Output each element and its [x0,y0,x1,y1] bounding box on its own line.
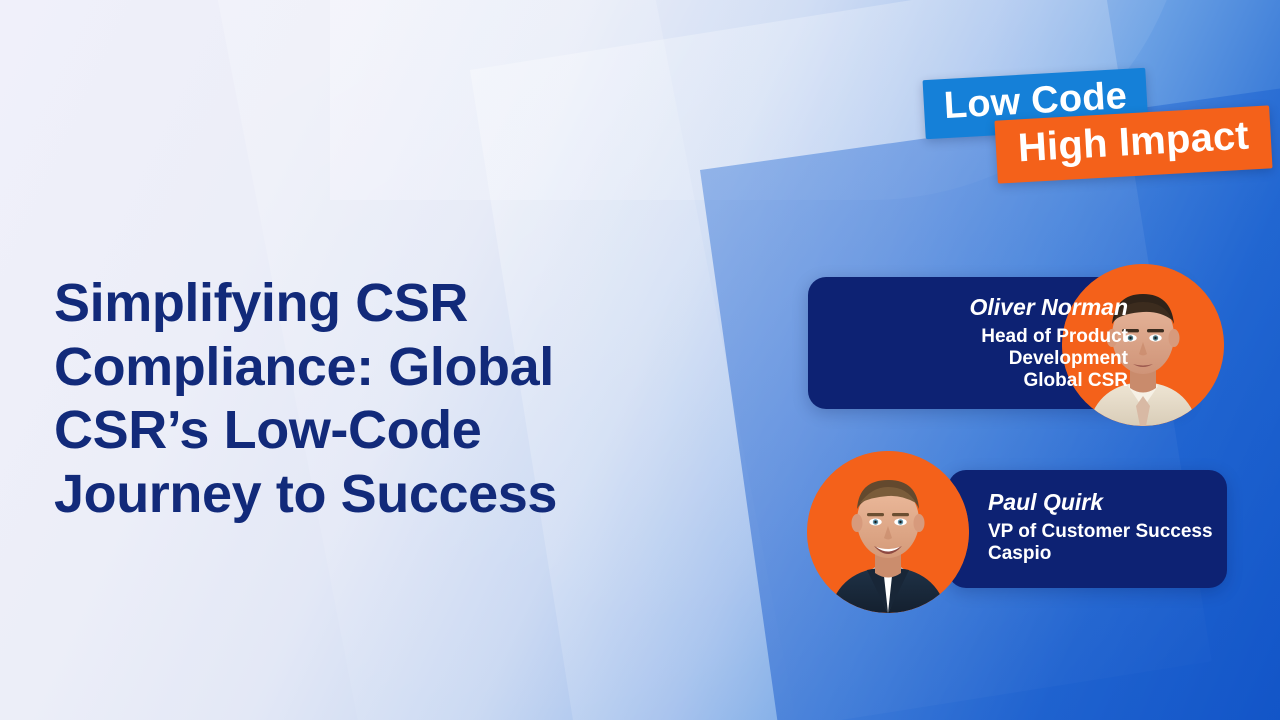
speaker-name: Oliver Norman [828,294,1128,321]
speaker-name: Paul Quirk [988,489,1238,516]
badge-group: Low Code High Impact [918,60,1280,190]
speaker-info: Paul Quirk VP of Customer Success Caspio [988,489,1238,565]
title-slide: Low Code High Impact Simplifying CSR Com… [0,0,1280,720]
page-title: Simplifying CSR Compliance: Global CSR’s… [54,272,694,527]
speaker-organization: Global CSR [828,370,1128,392]
speaker-info: Oliver Norman Head of Product Developmen… [828,294,1128,392]
speaker-role-line-2: Development [828,348,1128,370]
speaker-role-line-1: Head of Product [828,326,1128,348]
paul-quirk-avatar [807,451,969,613]
speaker-organization: Caspio [988,543,1238,565]
speaker-role-line-1: VP of Customer Success [988,521,1238,543]
